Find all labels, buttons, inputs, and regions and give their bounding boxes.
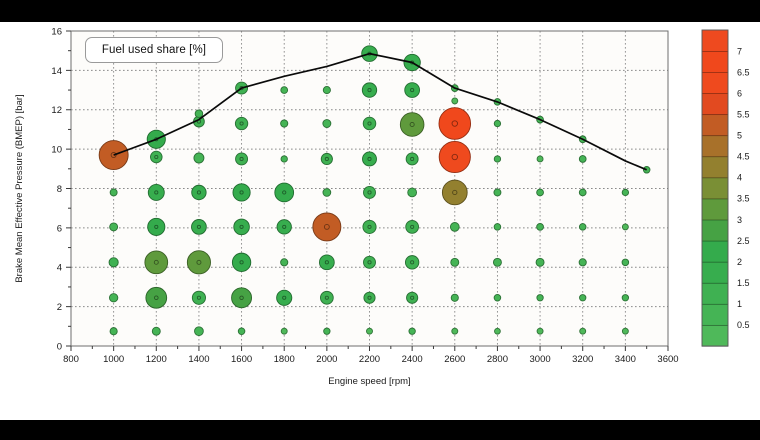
data-point-bubble: [192, 291, 205, 304]
data-point-bubble: [232, 288, 252, 308]
data-point-bubble: [324, 328, 330, 334]
colorbar-tick-label: 6: [737, 88, 742, 98]
colorbar-tick-label: 4: [737, 173, 742, 183]
data-point-bubble: [579, 156, 586, 163]
colorbar-tick-label: 7: [737, 46, 742, 56]
data-point-bubble: [580, 295, 586, 301]
data-point-bubble: [109, 258, 118, 267]
chart-annotation-box: Fuel used share [%]: [85, 37, 223, 63]
y-tick-label: 4: [57, 263, 62, 274]
data-point-bubble: [236, 153, 248, 165]
colorbar-tick-label: 0.5: [737, 320, 750, 330]
colorbar-segment: [702, 241, 728, 262]
data-point-bubble: [150, 151, 162, 163]
data-point-bubble: [363, 152, 377, 166]
colorbar-tick-label: 4.5: [737, 152, 750, 162]
data-point-bubble: [405, 256, 418, 269]
data-point-bubble: [537, 189, 544, 196]
data-point-bubble: [233, 184, 250, 201]
data-point-bubble: [235, 117, 247, 129]
colorbar-segment: [702, 93, 728, 114]
colorbar-segment: [702, 262, 728, 283]
data-point-bubble: [277, 220, 291, 234]
data-point-bubble: [146, 287, 167, 308]
data-point-bubble: [363, 220, 376, 233]
data-point-bubble: [109, 294, 117, 302]
data-point-bubble: [195, 110, 203, 118]
x-tick-label: 2400: [402, 354, 423, 365]
colorbar-tick-label: 5: [737, 131, 742, 141]
data-point-bubble: [194, 153, 204, 163]
data-point-bubble: [494, 224, 501, 231]
x-axis-title: Engine speed [rpm]: [328, 376, 410, 387]
data-point-bubble: [405, 83, 420, 98]
data-point-bubble: [537, 328, 543, 334]
data-point-bubble: [110, 328, 117, 335]
data-point-bubble: [148, 184, 164, 200]
colorbar[interactable]: 0.511.522.533.544.555.566.57: [702, 30, 750, 346]
data-point-bubble: [281, 259, 288, 266]
colorbar-tick-label: 2: [737, 257, 742, 267]
data-point-bubble: [319, 255, 334, 270]
chart-annotation-label: Fuel used share [%]: [102, 44, 206, 56]
data-point-bubble: [281, 328, 287, 334]
data-point-bubble: [580, 328, 586, 334]
data-point-bubble: [145, 251, 168, 274]
data-point-bubble: [323, 86, 330, 93]
data-point-bubble: [364, 292, 375, 303]
colorbar-segment: [702, 199, 728, 220]
data-point-bubble: [110, 223, 118, 231]
data-point-bubble: [495, 328, 501, 334]
data-point-bubble: [494, 120, 500, 126]
colorbar-segment: [702, 114, 728, 135]
data-point-bubble: [439, 108, 471, 140]
screenshot-root: 8001000120014001600180020002200240026002…: [0, 0, 760, 440]
data-point-bubble: [232, 253, 250, 271]
y-tick-label: 2: [57, 302, 62, 313]
data-point-bubble: [406, 220, 419, 233]
colorbar-segment: [702, 72, 728, 93]
colorbar-tick-label: 3.5: [737, 194, 750, 204]
y-tick-label: 0: [57, 341, 62, 352]
data-point-bubble: [363, 117, 376, 130]
data-point-bubble: [494, 294, 501, 301]
data-point-bubble: [148, 218, 165, 235]
data-point-bubble: [536, 258, 544, 266]
x-tick-label: 3600: [657, 354, 678, 365]
x-tick-label: 2000: [316, 354, 337, 365]
data-point-bubble: [537, 295, 543, 301]
x-tick-label: 1200: [146, 354, 167, 365]
x-tick-label: 2800: [487, 354, 508, 365]
x-tick-label: 1600: [231, 354, 252, 365]
data-point-bubble: [152, 327, 160, 335]
data-point-bubble: [281, 87, 288, 94]
data-point-bubble: [238, 328, 245, 335]
data-point-bubble: [579, 259, 586, 266]
y-tick-label: 8: [57, 184, 62, 195]
data-point-bubble: [364, 186, 376, 198]
y-tick-label: 10: [51, 145, 62, 156]
colorbar-tick-label: 1: [737, 299, 742, 309]
data-point-bubble: [494, 156, 500, 162]
data-point-bubble: [367, 328, 373, 334]
colorbar-segment: [702, 220, 728, 241]
colorbar-segment: [702, 283, 728, 304]
colorbar-tick-label: 3: [737, 215, 742, 225]
data-point-bubble: [281, 120, 288, 127]
data-point-bubble: [451, 258, 459, 266]
data-point-bubble: [320, 291, 333, 304]
data-point-bubble: [537, 223, 544, 230]
y-tick-label: 12: [51, 105, 62, 116]
colorbar-segment: [702, 177, 728, 198]
data-point-bubble: [493, 258, 501, 266]
data-point-bubble: [192, 219, 207, 234]
data-point-bubble: [451, 294, 458, 301]
data-point-bubble: [195, 327, 204, 336]
data-point-bubble: [408, 188, 417, 197]
data-point-bubble: [281, 156, 287, 162]
chart-figure: 8001000120014001600180020002200240026002…: [0, 0, 760, 398]
data-point-bubble: [439, 141, 470, 172]
colorbar-segment: [702, 304, 728, 325]
data-point-bubble: [364, 256, 376, 268]
data-point-bubble: [579, 189, 586, 196]
data-point-bubble: [406, 153, 418, 165]
data-point-bubble: [450, 222, 459, 231]
data-point-bubble: [323, 120, 331, 128]
data-point-bubble: [277, 290, 292, 305]
x-tick-label: 2600: [444, 354, 465, 365]
x-tick-label: 1400: [188, 354, 209, 365]
y-tick-label: 16: [51, 26, 62, 37]
colorbar-segment: [702, 135, 728, 156]
colorbar-segment: [702, 156, 728, 177]
data-point-bubble: [494, 189, 501, 196]
data-point-bubble: [275, 183, 294, 202]
colorbar-tick-label: 1.5: [737, 278, 750, 288]
data-point-bubble: [110, 189, 117, 196]
data-point-bubble: [192, 185, 206, 199]
data-point-bubble: [579, 224, 586, 231]
x-tick-label: 2200: [359, 354, 380, 365]
colorbar-segment: [702, 30, 728, 51]
data-point-bubble: [452, 98, 458, 104]
x-tick-label: 3000: [530, 354, 551, 365]
x-tick-label: 800: [63, 354, 79, 365]
y-tick-label: 6: [57, 223, 62, 234]
x-tick-label: 1000: [103, 354, 124, 365]
y-tick-label: 14: [51, 66, 62, 77]
x-tick-label: 3200: [572, 354, 593, 365]
data-point-bubble: [409, 328, 415, 334]
data-point-bubble: [622, 189, 628, 195]
colorbar-segment: [702, 51, 728, 72]
data-point-bubble: [622, 328, 628, 334]
data-point-bubble: [537, 156, 543, 162]
data-point-bubble: [452, 328, 458, 334]
data-point-bubble: [187, 251, 210, 274]
data-point-bubble: [442, 180, 467, 205]
x-tick-label: 3400: [615, 354, 636, 365]
x-tick-label: 1800: [274, 354, 295, 365]
data-point-bubble: [622, 224, 628, 230]
data-point-bubble: [362, 83, 376, 97]
data-point-bubble: [313, 213, 341, 241]
colorbar-tick-label: 2.5: [737, 236, 750, 246]
data-point-bubble: [234, 219, 250, 235]
colorbar-tick-label: 5.5: [737, 109, 750, 119]
data-point-bubble: [622, 259, 629, 266]
data-point-bubble: [400, 113, 424, 137]
y-axis-title: Brake Mean Effective Pressure (BMEP) [ba…: [14, 94, 25, 282]
data-point-bubble: [407, 292, 418, 303]
colorbar-tick-label: 6.5: [737, 67, 750, 77]
data-point-bubble: [321, 153, 332, 164]
data-point-bubble: [323, 189, 331, 197]
colorbar-segment: [702, 325, 728, 346]
data-point-bubble: [622, 295, 628, 301]
